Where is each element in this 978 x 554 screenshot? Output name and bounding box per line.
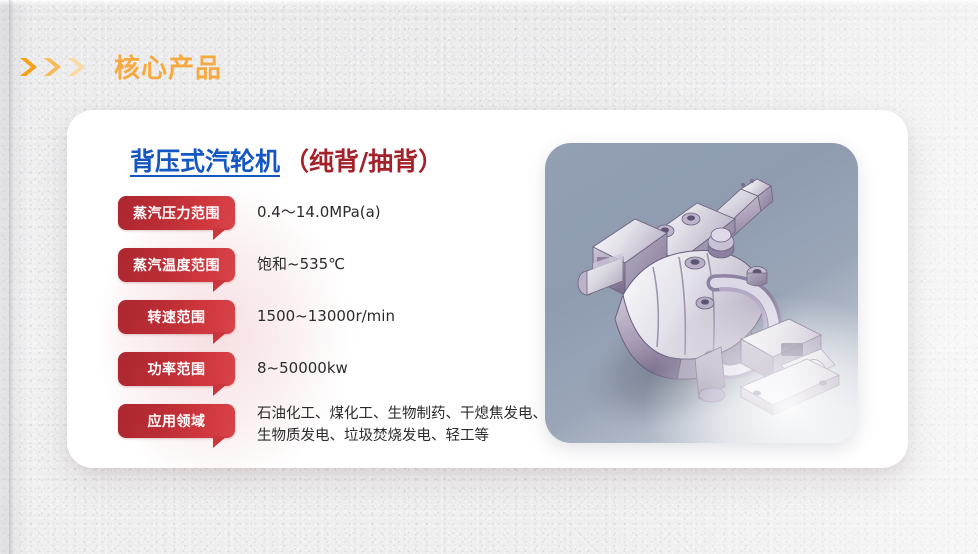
spec-label-text: 功率范围 [148, 359, 206, 379]
pill-tail-icon [213, 332, 227, 344]
spec-label-text: 转速范围 [148, 307, 206, 327]
product-image-panel: 背压式汽轮机三维模型图 [545, 143, 858, 443]
pill-tail-icon [213, 436, 227, 448]
double-chevron-right-icon [18, 55, 88, 79]
spec-value: 石油化工、煤化工、生物制药、干熄焦发电、 生物质发电、垃圾焚烧发电、轻工等 [257, 404, 547, 448]
spec-label-pill-wrap: 转速范围 [118, 300, 235, 334]
pill-tail-icon [213, 228, 227, 240]
pill-tail-icon [213, 384, 227, 396]
spec-label-pill-wrap: 应用领域 [118, 404, 235, 438]
spec-label-text: 蒸汽压力范围 [133, 203, 220, 223]
page-top-edge [0, 0, 978, 6]
spec-label-text: 应用领域 [148, 411, 206, 431]
pill-tail-icon [213, 280, 227, 292]
spec-value: 8~50000kw [257, 358, 348, 380]
image-panel-fade [545, 143, 858, 443]
spec-label-pill-wrap: 蒸汽温度范围 [118, 248, 235, 282]
spec-value: 饱和~535℃ [257, 254, 345, 276]
page-left-edge-shadow [9, 0, 13, 554]
spec-label-pill: 蒸汽温度范围 [118, 248, 235, 282]
product-title: 背压式汽轮机（纯背/抽背） [130, 142, 443, 178]
product-card: 背压式汽轮机（纯背/抽背） 蒸汽压力范围 0.4～14.0MPa(a) 蒸汽温度… [67, 110, 908, 468]
spec-row: 蒸汽压力范围 0.4～14.0MPa(a) [118, 195, 548, 245]
spec-label-pill-wrap: 功率范围 [118, 352, 235, 386]
spec-label-pill: 应用领域 [118, 404, 235, 438]
spec-list: 蒸汽压力范围 0.4～14.0MPa(a) 蒸汽温度范围 饱和~535℃ [118, 195, 548, 461]
spec-label-pill: 转速范围 [118, 300, 235, 334]
spec-value: 1500~13000r/min [257, 306, 395, 328]
slide-canvas: 核心产品 背压式汽轮机（纯背/抽背） 蒸汽压力范围 0.4～14.0MPa(a) [0, 0, 978, 554]
spec-row: 蒸汽温度范围 饱和~535℃ [118, 247, 548, 297]
spec-value: 0.4～14.0MPa(a) [257, 202, 381, 224]
spec-label-pill: 功率范围 [118, 352, 235, 386]
spec-label-pill: 蒸汽压力范围 [118, 196, 235, 230]
product-title-main: 背压式汽轮机 [130, 147, 280, 176]
product-title-sub: （纯背/抽背） [284, 147, 443, 176]
section-title: 核心产品 [114, 48, 222, 85]
spec-row: 转速范围 1500~13000r/min [118, 299, 548, 349]
spec-row: 功率范围 8~50000kw [118, 351, 548, 401]
spec-label-pill-wrap: 蒸汽压力范围 [118, 196, 235, 230]
spec-label-text: 蒸汽温度范围 [133, 255, 220, 275]
spec-row: 应用领域 石油化工、煤化工、生物制药、干熄焦发电、 生物质发电、垃圾焚烧发电、轻… [118, 403, 548, 459]
section-heading: 核心产品 [18, 48, 222, 85]
